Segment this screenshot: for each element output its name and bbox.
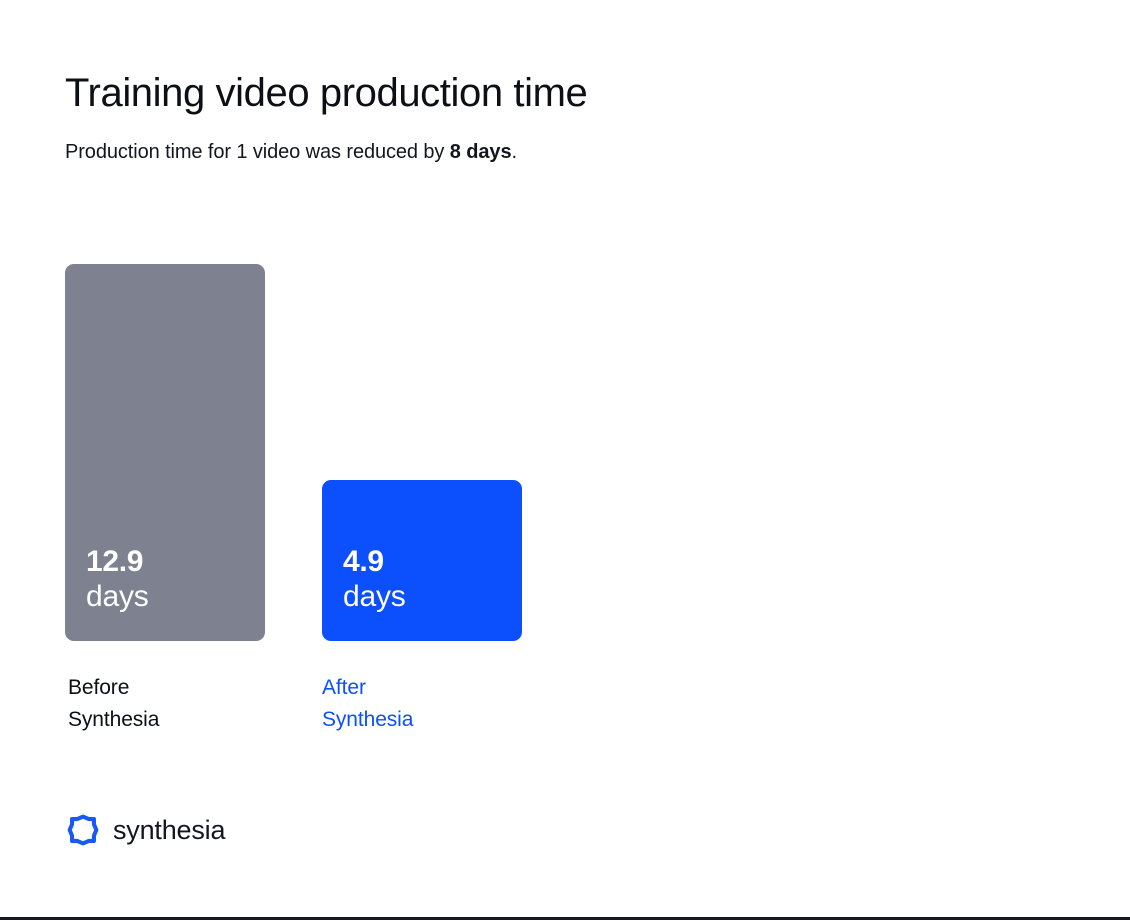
category-label-before-synthesia: Before Synthesia <box>68 672 278 736</box>
synthesia-logo: synthesia <box>65 812 225 848</box>
bar-chart-plot-area: 12.9 days 4.9 days <box>65 264 965 641</box>
subtitle-text-lead: Production time for 1 video was reduced … <box>65 141 450 163</box>
synthesia-wordmark: synthesia <box>113 815 225 845</box>
bar-after-synthesia[interactable]: 4.9 days <box>322 480 522 641</box>
category-label-after-synthesia: After Synthesia <box>322 672 532 736</box>
bar-unit-label: days <box>86 579 265 615</box>
chart-card: Training video production time Productio… <box>0 0 1130 920</box>
bar-group-after: 4.9 days <box>322 480 522 641</box>
bar-value-label: 12.9 <box>86 545 265 579</box>
chart-subtitle: Production time for 1 video was reduced … <box>65 138 1065 166</box>
bar-group-before: 12.9 days <box>65 264 265 641</box>
page-title: Training video production time <box>65 68 1065 118</box>
chart-header: Training video production time Productio… <box>65 68 1065 166</box>
subtitle-text-tail: . <box>511 141 516 163</box>
category-axis-labels: Before Synthesia After Synthesia <box>65 672 965 742</box>
subtitle-highlight: 8 days <box>450 141 512 163</box>
bar-value-label: 4.9 <box>343 545 522 579</box>
bar-unit-label: days <box>343 579 522 615</box>
bar-before-synthesia[interactable]: 12.9 days <box>65 264 265 641</box>
synthesia-star-icon <box>65 812 101 848</box>
